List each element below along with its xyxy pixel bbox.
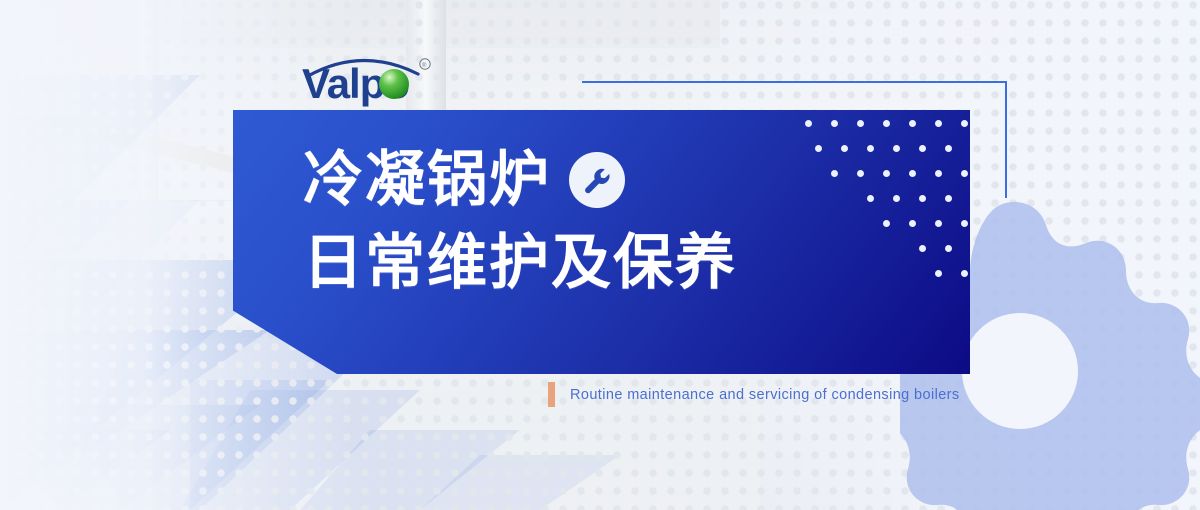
title-line-1: 冷凝锅炉 <box>303 138 737 221</box>
banner-root: Valpo ® 冷凝锅炉 日常维护及保养 <box>0 0 1200 510</box>
title-text-group: 冷凝锅炉 日常维护及保养 <box>303 138 737 304</box>
title-box: 冷凝锅炉 日常维护及保养 <box>233 110 970 374</box>
title-line-2: 日常维护及保养 <box>303 221 737 304</box>
title-line-1-text: 冷凝锅炉 <box>303 138 551 221</box>
subtitle-group: Routine maintenance and servicing of con… <box>548 382 960 407</box>
subtitle-accent-bar <box>548 382 555 407</box>
registered-trademark-symbol: ® <box>422 62 427 69</box>
brand-logo: Valpo ® <box>300 48 460 108</box>
wrench-icon <box>569 152 625 208</box>
subtitle-text: Routine maintenance and servicing of con… <box>570 387 960 403</box>
logo-sphere-icon <box>379 69 409 99</box>
